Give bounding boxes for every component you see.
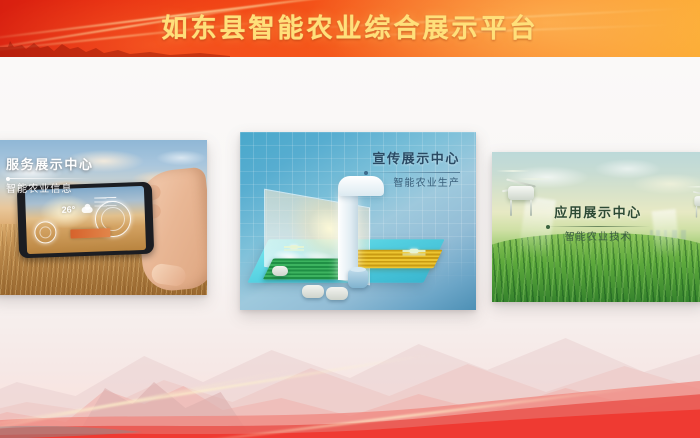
card-title-service: 服务展示中心 (6, 156, 94, 173)
card-service-image: 26° 服务展示中心 智能农业信息 (0, 140, 207, 295)
hud-data-bars-icon (94, 197, 116, 210)
divider-dot-icon (546, 225, 550, 229)
card-publicity-display-center[interactable]: 宣传展示中心 智能农业生产 (240, 132, 476, 310)
thumb (150, 263, 186, 288)
card-application-display-center[interactable]: 应用展示中心 智能农业技术 (492, 152, 700, 302)
title-divider (6, 178, 92, 179)
card-subtitle-application: 智能农业技术 (492, 231, 700, 245)
divider-dot-icon (6, 177, 10, 181)
card-service-caption: 服务展示中心 智能农业信息 (6, 156, 94, 197)
card-title-application: 应用展示中心 (492, 204, 700, 221)
water-tank-icon (348, 270, 368, 288)
temperature-readout: 26° (61, 204, 75, 214)
page-title: 如东县智能农业综合展示平台 (0, 9, 700, 47)
title-divider (364, 172, 460, 173)
smart-pole-structure (338, 184, 358, 280)
drone-icon (284, 244, 304, 250)
rotor (686, 186, 700, 187)
platform-landing-page: 如东县智能农业综合展示平台 26° (0, 0, 700, 438)
rotor (518, 178, 552, 180)
card-subtitle-service: 智能农业信息 (6, 183, 94, 197)
card-title-publicity: 宣传展示中心 (364, 150, 460, 167)
hay-bale (302, 285, 324, 298)
cloud-icon (82, 207, 93, 213)
card-subtitle-publicity: 智能农业生产 (364, 177, 460, 191)
drone-body (508, 186, 534, 200)
hud-info-chip (70, 228, 110, 238)
hay-bale (272, 266, 288, 276)
title-divider (546, 226, 650, 227)
card-service-display-center[interactable]: 26° 服务展示中心 智能农业信息 (0, 140, 207, 295)
drone-icon (403, 248, 426, 255)
divider-dot-icon (364, 171, 368, 175)
card-application-caption: 应用展示中心 智能农业技术 (492, 204, 700, 245)
golden-crop-rows (347, 250, 442, 269)
card-publicity-caption: 宣传展示中心 智能农业生产 (364, 150, 460, 191)
hay-bale (326, 287, 348, 300)
card-publicity-image: 宣传展示中心 智能农业生产 (240, 132, 476, 310)
rotor (496, 170, 530, 172)
header-banner: 如东县智能农业综合展示平台 (0, 0, 700, 57)
hud-small-ring-icon (34, 221, 57, 244)
card-application-image: 应用展示中心 智能农业技术 (492, 152, 700, 302)
